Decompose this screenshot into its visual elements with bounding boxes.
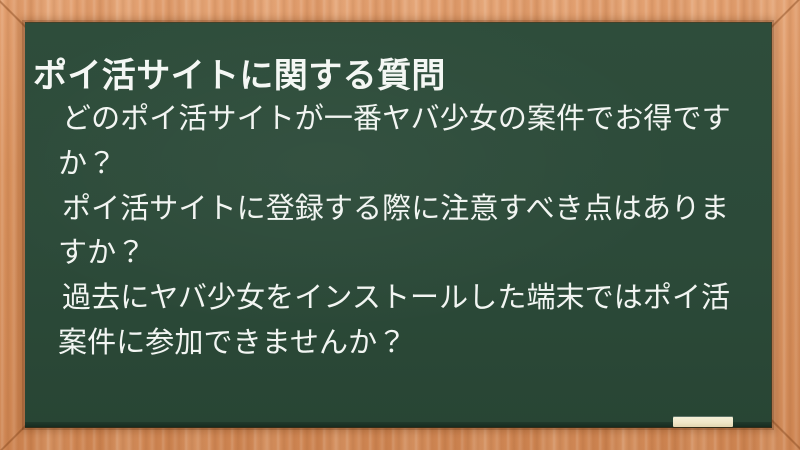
page-title: ポイ活サイトに関する質問: [33, 53, 763, 99]
question-list: どのポイ活サイトが一番ヤバ少女の案件でお得ですか？ ポイ活サイトに登録する際に注…: [58, 96, 748, 365]
chalk-stick-icon: [673, 417, 733, 427]
chalkboard-surface: ポイ活サイトに関する質問 どのポイ活サイトが一番ヤバ少女の案件でお得ですか？ ポ…: [25, 22, 772, 428]
frame-mitre-bottom-right: [767, 416, 800, 450]
question-item: ポイ活サイトに登録する際に注意すべき点はありますか？: [58, 186, 748, 275]
question-item: 過去にヤバ少女をインストールした端末ではポイ活案件に参加できませんか？: [58, 275, 748, 364]
blackboard-slide: ポイ活サイトに関する質問 どのポイ活サイトが一番ヤバ少女の案件でお得ですか？ ポ…: [0, 0, 800, 450]
question-item: どのポイ活サイトが一番ヤバ少女の案件でお得ですか？: [58, 96, 748, 185]
board-bottom-edge: [25, 422, 772, 428]
